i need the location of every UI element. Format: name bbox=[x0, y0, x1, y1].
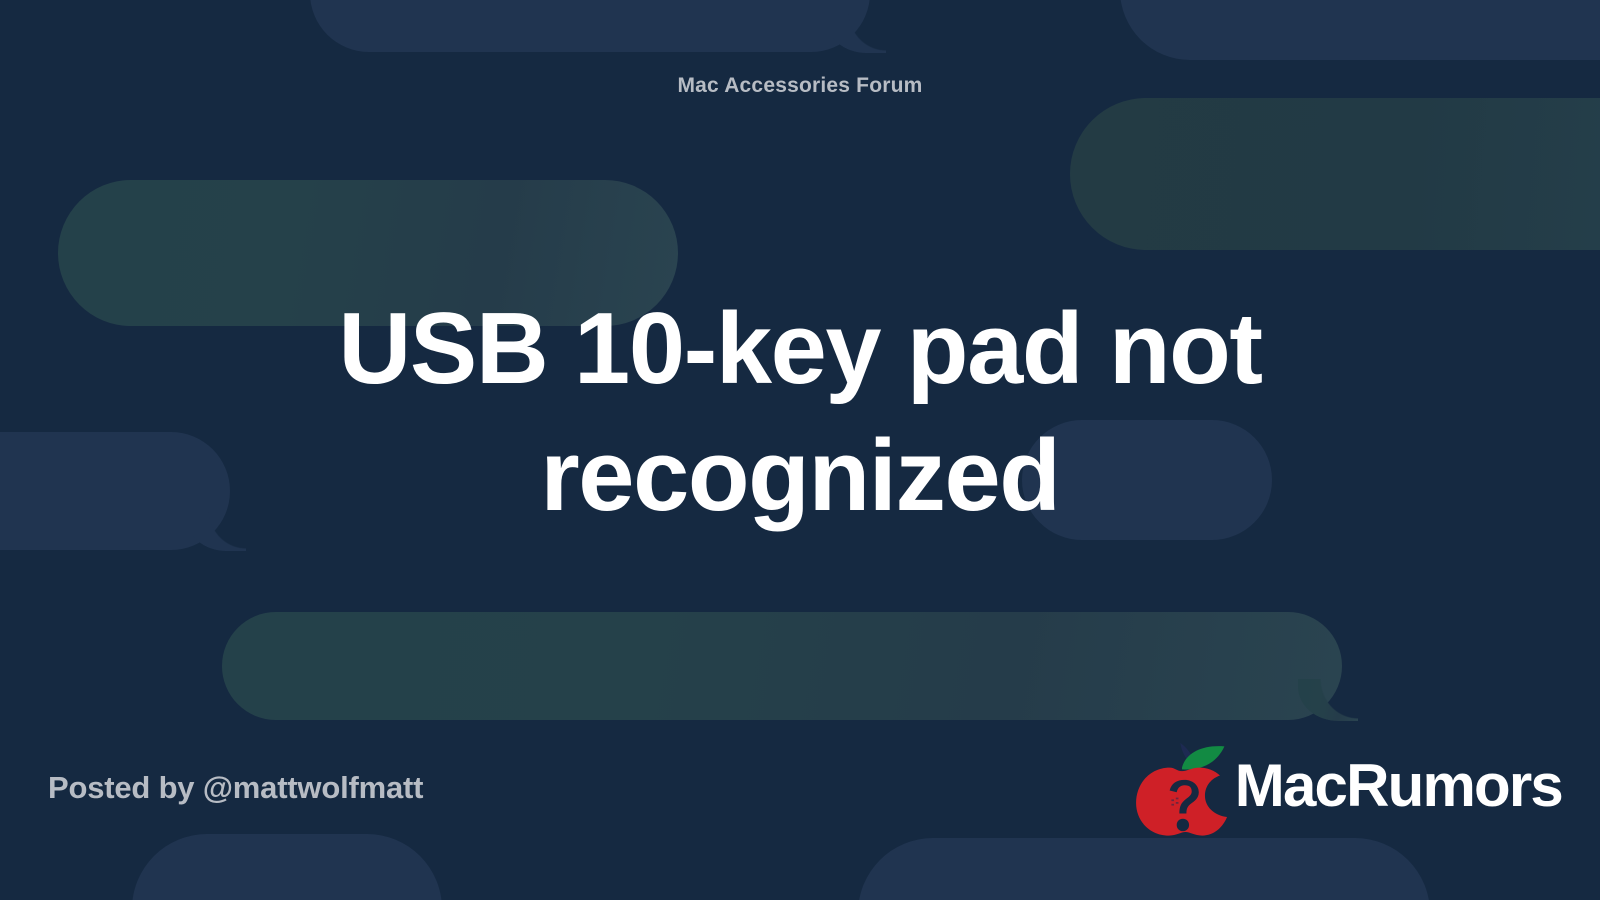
macrumors-logo: MacRumors bbox=[1129, 732, 1562, 840]
bubble-bottom-right bbox=[858, 838, 1430, 900]
apple-body-icon bbox=[1136, 768, 1227, 836]
posted-by-label: Posted by @mattwolfmatt bbox=[48, 770, 423, 806]
bubble-top-right bbox=[1120, 0, 1600, 60]
page-title: USB 10-key pad not recognized bbox=[120, 286, 1480, 541]
bubble-bottom-left bbox=[132, 834, 442, 900]
title-container: USB 10-key pad not recognized bbox=[120, 286, 1480, 541]
forum-name-label: Mac Accessories Forum bbox=[0, 74, 1600, 98]
social-share-card: Mac Accessories Forum USB 10-key pad not… bbox=[0, 0, 1600, 900]
bubble-lower-center-teal bbox=[222, 612, 1342, 720]
macrumors-wordmark: MacRumors bbox=[1235, 756, 1562, 816]
bubble-upper-right-teal bbox=[1070, 98, 1600, 250]
bubble-top-center bbox=[310, 0, 870, 52]
macrumors-apple-logo-icon bbox=[1129, 734, 1235, 840]
apple-leaf-icon bbox=[1182, 746, 1224, 769]
